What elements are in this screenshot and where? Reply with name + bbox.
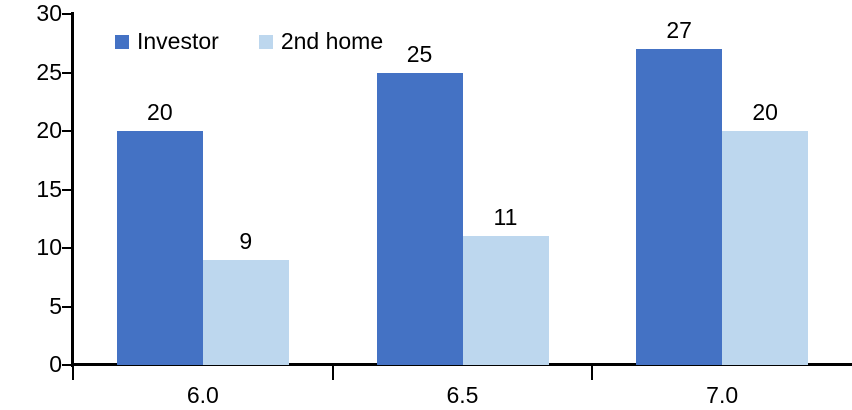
y-axis-tick-label: 15 <box>16 178 62 201</box>
bar <box>377 73 463 366</box>
y-axis-tick <box>62 130 71 132</box>
bar-value-label: 20 <box>117 100 203 124</box>
x-axis-tick <box>332 366 334 380</box>
bar-value-label: 20 <box>722 100 808 124</box>
y-axis-tick <box>62 306 71 308</box>
legend-item-label: Investor <box>137 30 219 53</box>
bar <box>463 236 549 365</box>
bar-value-label: 27 <box>636 18 722 42</box>
y-axis-tick-label: 25 <box>16 61 62 84</box>
bar <box>722 131 808 365</box>
y-axis-tick <box>62 13 71 15</box>
x-axis-tick <box>72 366 74 380</box>
bar <box>117 131 203 365</box>
chart-legend: Investor2nd home <box>115 30 383 53</box>
y-axis-tick <box>62 247 71 249</box>
y-axis-tick <box>62 364 71 366</box>
bar-value-label: 11 <box>463 205 549 229</box>
y-axis-tick <box>62 189 71 191</box>
y-axis-tick-label: 30 <box>16 2 62 25</box>
plot-area <box>73 14 852 365</box>
y-axis-tick-label: 5 <box>16 295 62 318</box>
y-axis-tick-label: 20 <box>16 119 62 142</box>
legend-swatch-investor <box>115 35 129 49</box>
x-axis-tick-label: 6.0 <box>73 383 333 407</box>
bar-value-label: 9 <box>203 229 289 253</box>
bar-value-label: 25 <box>377 42 463 66</box>
legend-item-label: 2nd home <box>281 30 383 53</box>
legend-item[interactable]: 2nd home <box>259 30 383 53</box>
y-axis-tick-label: 0 <box>16 353 62 376</box>
x-axis-tick-label: 7.0 <box>592 383 852 407</box>
bar <box>636 49 722 365</box>
bar-chart: 051015202530 6.06.57.0 20925112720 Inves… <box>0 0 852 410</box>
y-axis-tick <box>62 72 71 74</box>
y-axis-tick-label: 10 <box>16 236 62 259</box>
legend-swatch-2nd-home <box>259 35 273 49</box>
x-axis-tick-label: 6.5 <box>333 383 593 407</box>
bar <box>203 260 289 365</box>
legend-item[interactable]: Investor <box>115 30 219 53</box>
x-axis-tick <box>591 366 593 380</box>
